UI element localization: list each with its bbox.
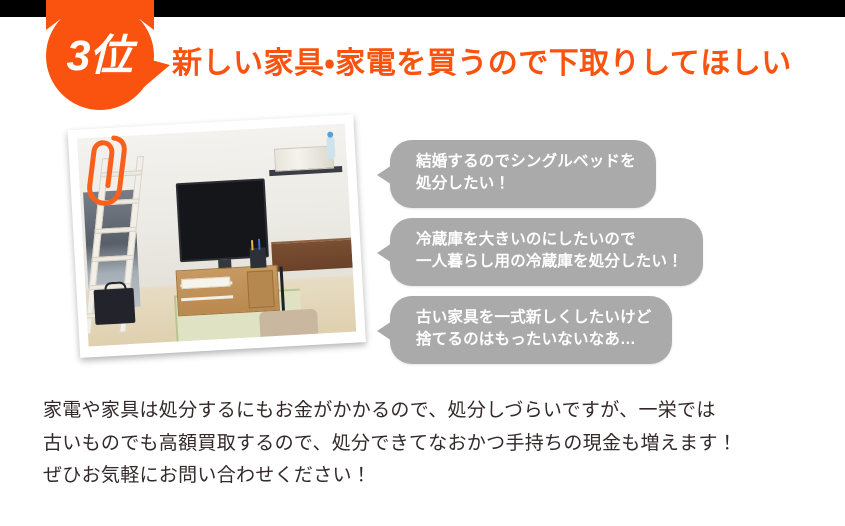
body-paragraph: 家電や家具は処分するにもお金がかかるので、処分しづらいですが、一栄では 古いもの… [43,395,803,493]
rank-badge-label: 3位 [46,2,154,110]
photo-bag [94,288,136,326]
speech-bubble: 古い家具を一式新しくしたいけど 捨てるのはもったいないなあ… [390,296,672,364]
paperclip-icon [80,129,128,207]
page-title: 新しい家具・家電を買うので下取りしてほしい [172,49,792,79]
photo-pen-holder [250,247,267,269]
photo-books [274,145,334,171]
photo-tv-cabinet [176,265,280,316]
promo-page: 3位 新しい家具・家電を買うので下取りしてほしい [0,0,845,526]
speech-bubble-list: 結婚するのでシングルベッドを 処分したい！ 冷蔵庫を大きいのにしたいので 一人暮… [390,140,790,374]
speech-bubble: 冷蔵庫を大きいのにしたいので 一人暮らし用の冷蔵庫を処分したい！ [390,218,703,286]
photo-bottle [327,137,336,159]
speech-bubble: 結婚するのでシングルベッドを 処分したい！ [390,140,656,208]
cabinet-door [247,270,275,308]
photo-sofa [259,309,319,337]
rank-badge: 3位 [46,2,154,110]
photo-desk [271,238,353,272]
cabinet-shelf [181,296,233,302]
